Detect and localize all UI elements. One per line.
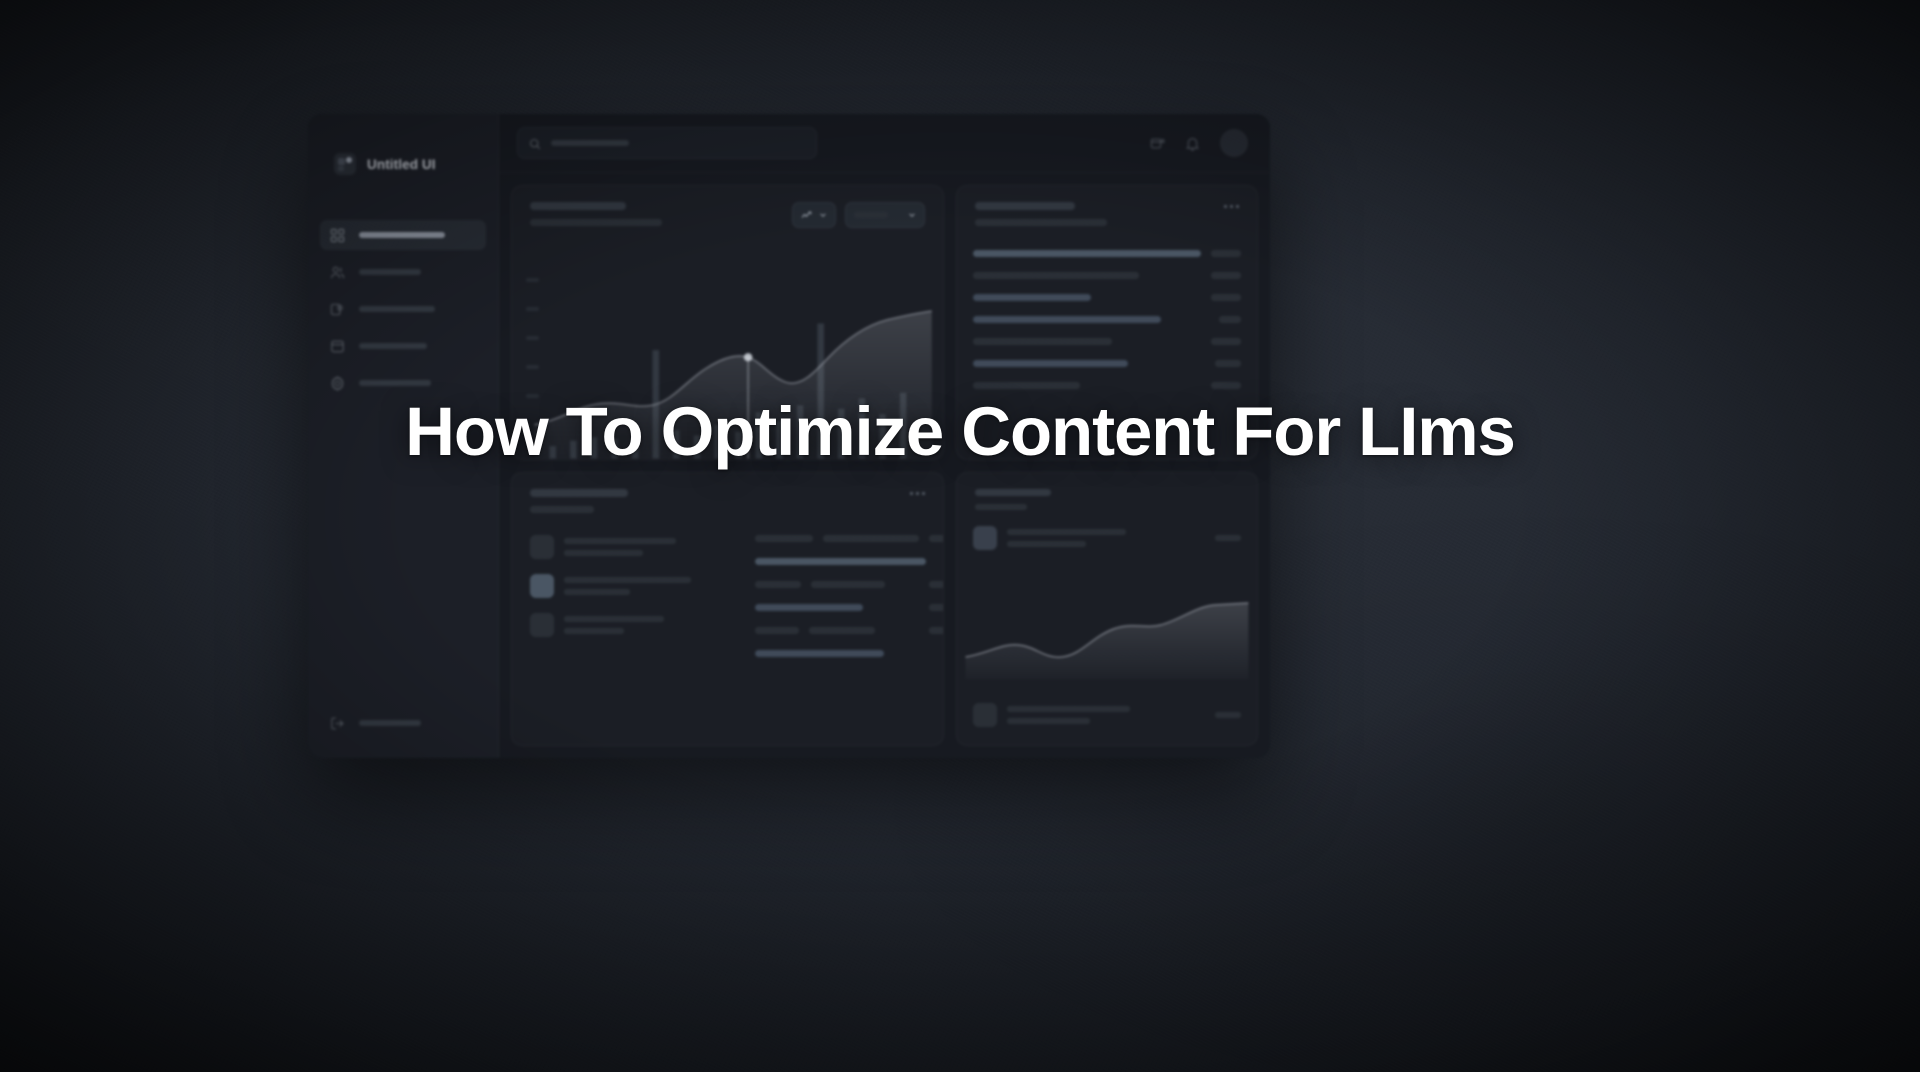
background-vignette (0, 0, 1920, 1072)
page-title: How To Optimize Content For LIms (0, 396, 1920, 468)
hero-background: Untitled UI (0, 0, 1920, 1072)
